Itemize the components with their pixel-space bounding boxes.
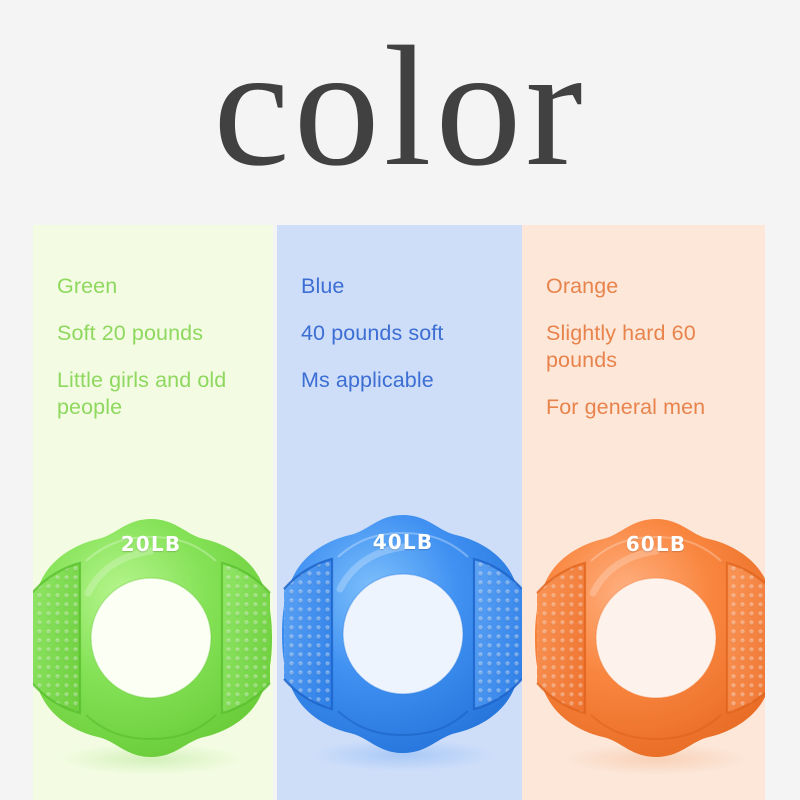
product-column-blue: Blue 40 pounds soft Ms applicable (277, 225, 522, 800)
page-title: color (0, 22, 800, 192)
column-text-blue: Blue 40 pounds soft Ms applicable (301, 273, 506, 394)
product-column-orange: Orange Slightly hard 60 pounds For gener… (522, 225, 765, 800)
audience-label: Ms applicable (301, 367, 506, 394)
column-text-green: Green Soft 20 pounds Little girls and ol… (57, 273, 262, 421)
color-name-label: Green (57, 273, 262, 300)
color-name-label: Orange (546, 273, 746, 300)
infographic-canvas: color Green Soft 20 pounds Little girls … (0, 0, 800, 800)
audience-label: Little girls and old people (57, 367, 262, 421)
resistance-label: Slightly hard 60 pounds (546, 320, 746, 374)
resistance-label: Soft 20 pounds (57, 320, 262, 347)
resistance-label: 40 pounds soft (301, 320, 506, 347)
hand-grip-ring-blue: 40LB (278, 497, 522, 772)
hand-grip-ring-orange: 60LB (531, 501, 765, 776)
column-text-orange: Orange Slightly hard 60 pounds For gener… (546, 273, 746, 421)
product-column-green: Green Soft 20 pounds Little girls and ol… (33, 225, 273, 800)
color-name-label: Blue (301, 273, 506, 300)
audience-label: For general men (546, 394, 746, 421)
hand-grip-ring-green: 20LB (33, 501, 273, 776)
